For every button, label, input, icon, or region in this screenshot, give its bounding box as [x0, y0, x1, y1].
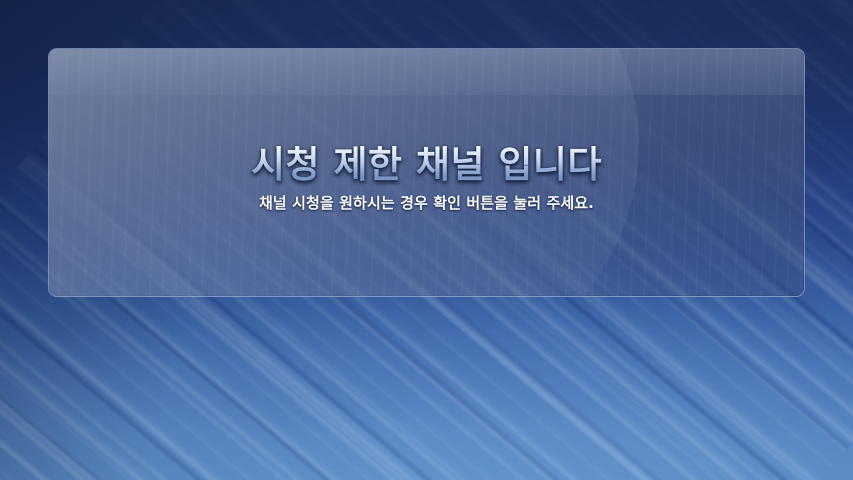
panel-content: 시청 제한 채널 입니다 채널 시청을 원하시는 경우 확인 버튼을 눌러 주세… — [49, 49, 804, 296]
page-title: 시청 제한 채널 입니다 — [251, 146, 602, 184]
tv-screen: 시청 제한 채널 입니다 채널 시청을 원하시는 경우 확인 버튼을 눌러 주세… — [0, 0, 853, 480]
instruction-text: 채널 시청을 원하시는 경우 확인 버튼을 눌러 주세요. — [259, 192, 594, 213]
viewing-restriction-panel: 시청 제한 채널 입니다 채널 시청을 원하시는 경우 확인 버튼을 눌러 주세… — [48, 48, 805, 297]
